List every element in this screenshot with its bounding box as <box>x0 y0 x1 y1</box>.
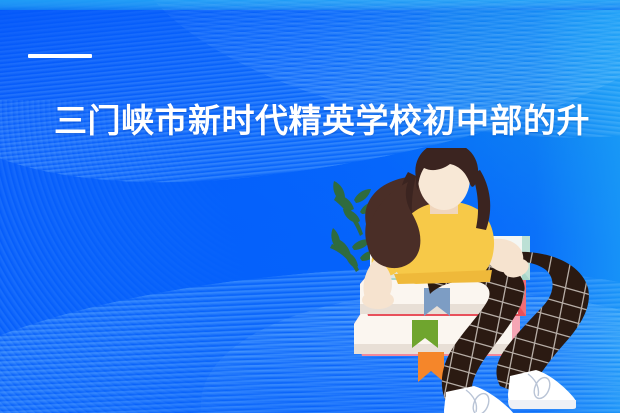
accent-rule <box>28 54 92 58</box>
shoe-back <box>508 370 576 409</box>
headline-text: 三门峡市新时代精英学校初中部的升 <box>54 101 614 141</box>
bookmark-orange <box>418 352 444 382</box>
hand-support <box>362 291 394 309</box>
illustration-woman-on-books <box>330 148 620 413</box>
promo-banner: 三门峡市新时代精英学校初中部的升 <box>0 0 620 413</box>
